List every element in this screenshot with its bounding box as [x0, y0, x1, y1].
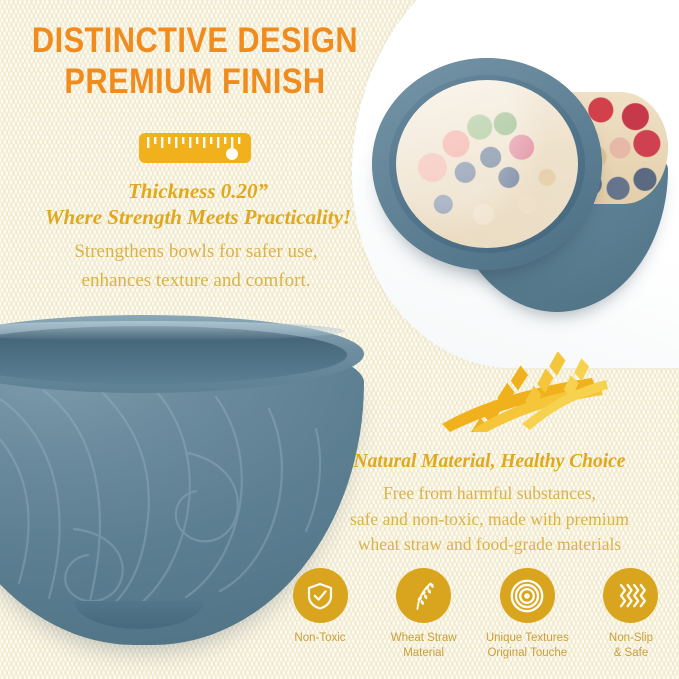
- ruler-icon: [139, 133, 251, 163]
- thickness-text-block: Thickness 0.20” Where Strength Meets Pra…: [0, 178, 396, 231]
- shield-check-icon: [305, 581, 335, 611]
- wavy-lines-icon: [616, 582, 646, 610]
- feature-icon-badge: [500, 568, 555, 623]
- thickness-headline-2: Where Strength Meets Practicality!: [0, 204, 396, 230]
- feature-icon-badge: [293, 568, 348, 623]
- concentric-circles-icon: [510, 579, 544, 613]
- feature-non-toxic: Non-Toxic: [272, 568, 368, 646]
- feature-icon-badge: [396, 568, 451, 623]
- headline-line-2: PREMIUM FINISH: [23, 63, 366, 100]
- feature-icon-row: Non-Toxic Wheat Straw Material: [272, 568, 679, 660]
- feature-label: Non-Slip & Safe: [609, 631, 653, 660]
- feature-label: Wheat Straw Material: [391, 631, 457, 660]
- photo-front-bowl-lid: [372, 58, 602, 308]
- ruler-icon-wrapper: [0, 133, 390, 163]
- feature-unique-textures: Unique Textures Original Touche: [479, 568, 575, 660]
- natural-material-title: Natural Material, Healthy Choice: [300, 450, 679, 474]
- thickness-body-text: Strengthens bowls for safer use, enhance…: [0, 238, 392, 295]
- photo-lid-rim: [372, 58, 602, 270]
- product-photo-two-bowls: [372, 58, 672, 348]
- wheat-stalks-icon: [438, 352, 608, 432]
- headline-block: DISTINCTIVE DESIGN PREMIUM FINISH: [0, 22, 390, 100]
- thickness-headline-1: Thickness 0.20”: [0, 178, 396, 204]
- feature-wheat-straw-material: Wheat Straw Material: [376, 568, 472, 660]
- feature-label: Unique Textures Original Touche: [486, 631, 569, 660]
- natural-material-body: Free from harmful substances, safe and n…: [300, 481, 679, 557]
- natural-material-block: Natural Material, Healthy Choice Free fr…: [300, 450, 679, 558]
- wheat-sprig-icon: [409, 580, 439, 612]
- feature-non-slip-safe: Non-Slip & Safe: [583, 568, 679, 660]
- feature-icon-badge: [603, 568, 658, 623]
- headline-line-1: DISTINCTIVE DESIGN: [23, 22, 366, 59]
- feature-label: Non-Toxic: [294, 631, 345, 646]
